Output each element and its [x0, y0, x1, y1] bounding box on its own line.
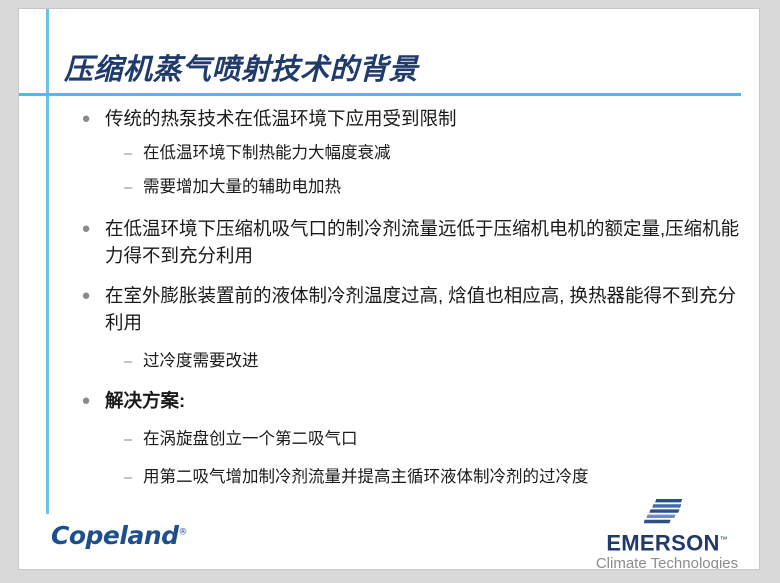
bullet-marker-dot: ●	[79, 387, 93, 414]
copeland-logo: Copeland®	[51, 521, 187, 550]
bullet-level1-solution: ● 解决方案:	[49, 387, 749, 414]
trademark-icon: ™	[720, 535, 728, 544]
bullet-text: 在低温环境下压缩机吸气口的制冷剂流量远低于压缩机电机的额定量,压缩机能力得不到充…	[105, 215, 749, 269]
slide-body: ● 传统的热泵技术在低温环境下应用受到限制 – 在低温环境下制热能力大幅度衰减 …	[49, 105, 749, 490]
bullet-marker-dash: –	[121, 349, 135, 374]
emerson-wordmark: EMERSON™	[587, 528, 747, 555]
bullet-level2: – 在低温环境下制热能力大幅度衰减	[49, 141, 749, 166]
bullet-level1: ● 传统的热泵技术在低温环境下应用受到限制	[49, 105, 749, 132]
bullet-text: 在低温环境下制热能力大幅度衰减	[143, 141, 749, 166]
emerson-tagline: Climate Technologies	[587, 555, 747, 570]
emerson-mark-icon	[644, 497, 690, 527]
emerson-logo: EMERSON™ Climate Technologies	[587, 497, 747, 570]
bullet-text: 过冷度需要改进	[143, 349, 749, 374]
bullet-marker-dash: –	[121, 141, 135, 166]
emerson-name: EMERSON	[606, 530, 719, 555]
bullet-text: 用第二吸气增加制冷剂流量并提高主循环液体制冷剂的过冷度	[143, 465, 749, 490]
bullet-level2: – 需要增加大量的辅助电加热	[49, 175, 749, 200]
bullet-text: 解决方案:	[105, 387, 749, 414]
slide-title: 压缩机蒸气喷射技术的背景	[64, 53, 418, 87]
copeland-wordmark: Copeland	[51, 521, 179, 550]
bullet-marker-dash: –	[121, 175, 135, 200]
registered-trademark-icon: ®	[179, 528, 188, 538]
bullet-marker-dot: ●	[79, 282, 93, 309]
bullet-level2: – 用第二吸气增加制冷剂流量并提高主循环液体制冷剂的过冷度	[49, 465, 749, 490]
bullet-text: 传统的热泵技术在低温环境下应用受到限制	[105, 105, 749, 132]
bullet-marker-dash: –	[121, 465, 135, 490]
bullet-marker-dash: –	[121, 427, 135, 452]
bullet-level2: – 在涡旋盘创立一个第二吸气口	[49, 427, 749, 452]
bullet-level2: – 过冷度需要改进	[49, 349, 749, 374]
bullet-marker-dot: ●	[79, 215, 93, 242]
bullet-text: 需要增加大量的辅助电加热	[143, 175, 749, 200]
bullet-marker-dot: ●	[79, 105, 93, 132]
bullet-level1: ● 在低温环境下压缩机吸气口的制冷剂流量远低于压缩机电机的额定量,压缩机能力得不…	[49, 215, 749, 269]
bullet-text: 在室外膨胀装置前的液体制冷剂温度过高, 焓值也相应高, 换热器能得不到充分利用	[105, 282, 749, 336]
bullet-text: 在涡旋盘创立一个第二吸气口	[143, 427, 749, 452]
bullet-level1: ● 在室外膨胀装置前的液体制冷剂温度过高, 焓值也相应高, 换热器能得不到充分利…	[49, 282, 749, 336]
slide: 压缩机蒸气喷射技术的背景 ● 传统的热泵技术在低温环境下应用受到限制 – 在低温…	[18, 8, 760, 570]
horizontal-accent-rule	[19, 93, 741, 96]
